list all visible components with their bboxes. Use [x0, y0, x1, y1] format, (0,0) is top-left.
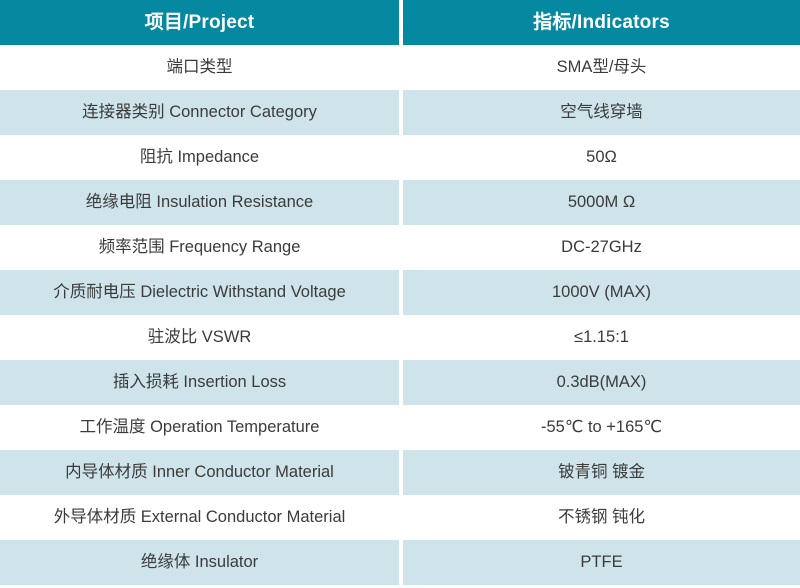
row-project-cell: 连接器类别 Connector Category: [0, 90, 399, 135]
row-indicator-cell: 5000M Ω: [403, 180, 800, 225]
table-row: 驻波比 VSWR ≤1.15:1: [0, 315, 800, 360]
row-project-label: 介质耐电压 Dielectric Withstand Voltage: [53, 282, 346, 303]
row-indicator-cell: 空气线穿墙: [403, 90, 800, 135]
table-row: 端口类型 SMA型/母头: [0, 45, 800, 90]
row-indicator-value: 0.3dB(MAX): [557, 372, 647, 393]
table-row: 频率范围 Frequency Range DC-27GHz: [0, 225, 800, 270]
row-project-cell: 插入损耗 Insertion Loss: [0, 360, 399, 405]
table-row: 绝缘体 Insulator PTFE: [0, 540, 800, 585]
row-indicator-cell: SMA型/母头: [403, 45, 800, 90]
row-project-label: 端口类型: [167, 57, 233, 78]
row-indicator-value: 5000M Ω: [568, 192, 635, 213]
row-project-label: 频率范围 Frequency Range: [99, 237, 301, 258]
row-project-cell: 绝缘体 Insulator: [0, 540, 399, 585]
row-indicator-value: -55℃ to +165℃: [541, 417, 662, 438]
row-indicator-value: 铍青铜 镀金: [558, 462, 645, 483]
table-row: 绝缘电阻 Insulation Resistance 5000M Ω: [0, 180, 800, 225]
row-indicator-cell: ≤1.15:1: [403, 315, 800, 360]
row-project-cell: 介质耐电压 Dielectric Withstand Voltage: [0, 270, 399, 315]
table-row: 阻抗 Impedance 50Ω: [0, 135, 800, 180]
row-project-cell: 阻抗 Impedance: [0, 135, 399, 180]
row-project-cell: 频率范围 Frequency Range: [0, 225, 399, 270]
row-project-cell: 端口类型: [0, 45, 399, 90]
row-project-label: 内导体材质 Inner Conductor Material: [65, 462, 334, 483]
row-project-label: 绝缘体 Insulator: [141, 552, 258, 573]
table-row: 连接器类别 Connector Category 空气线穿墙: [0, 90, 800, 135]
row-project-cell: 工作温度 Operation Temperature: [0, 405, 399, 450]
row-indicator-value: 1000V (MAX): [552, 282, 651, 303]
table-row: 外导体材质 External Conductor Material 不锈钢 钝化: [0, 495, 800, 540]
column-header-project: 项目/Project: [0, 0, 399, 45]
row-project-label: 插入损耗 Insertion Loss: [113, 372, 286, 393]
row-indicator-cell: 50Ω: [403, 135, 800, 180]
column-header-project-label: 项目/Project: [145, 11, 255, 35]
row-project-label: 连接器类别 Connector Category: [82, 102, 317, 123]
row-indicator-cell: 1000V (MAX): [403, 270, 800, 315]
row-indicator-value: SMA型/母头: [557, 57, 647, 78]
row-indicator-value: ≤1.15:1: [574, 327, 629, 348]
row-project-cell: 外导体材质 External Conductor Material: [0, 495, 399, 540]
table-row: 插入损耗 Insertion Loss 0.3dB(MAX): [0, 360, 800, 405]
row-project-label: 驻波比 VSWR: [148, 327, 252, 348]
table-row: 内导体材质 Inner Conductor Material 铍青铜 镀金: [0, 450, 800, 495]
table-header-row: 项目/Project 指标/Indicators: [0, 0, 800, 45]
row-project-label: 绝缘电阻 Insulation Resistance: [86, 192, 313, 213]
row-indicator-cell: 铍青铜 镀金: [403, 450, 800, 495]
row-indicator-cell: -55℃ to +165℃: [403, 405, 800, 450]
row-project-label: 阻抗 Impedance: [140, 147, 259, 168]
row-indicator-value: DC-27GHz: [561, 237, 642, 258]
row-project-cell: 驻波比 VSWR: [0, 315, 399, 360]
row-project-cell: 内导体材质 Inner Conductor Material: [0, 450, 399, 495]
column-header-indicators: 指标/Indicators: [403, 0, 800, 45]
table-row: 介质耐电压 Dielectric Withstand Voltage 1000V…: [0, 270, 800, 315]
row-project-label: 外导体材质 External Conductor Material: [54, 507, 346, 528]
row-indicator-value: 不锈钢 钝化: [558, 507, 645, 528]
table-row: 工作温度 Operation Temperature -55℃ to +165℃: [0, 405, 800, 450]
row-indicator-cell: DC-27GHz: [403, 225, 800, 270]
row-project-label: 工作温度 Operation Temperature: [80, 417, 320, 438]
row-indicator-cell: 0.3dB(MAX): [403, 360, 800, 405]
column-header-indicators-label: 指标/Indicators: [533, 11, 670, 35]
row-indicator-value: PTFE: [580, 552, 622, 573]
row-indicator-value: 50Ω: [586, 147, 617, 168]
row-project-cell: 绝缘电阻 Insulation Resistance: [0, 180, 399, 225]
row-indicator-value: 空气线穿墙: [560, 102, 643, 123]
specification-table: 项目/Project 指标/Indicators 端口类型 SMA型/母头 连接…: [0, 0, 800, 588]
row-indicator-cell: 不锈钢 钝化: [403, 495, 800, 540]
row-indicator-cell: PTFE: [403, 540, 800, 585]
